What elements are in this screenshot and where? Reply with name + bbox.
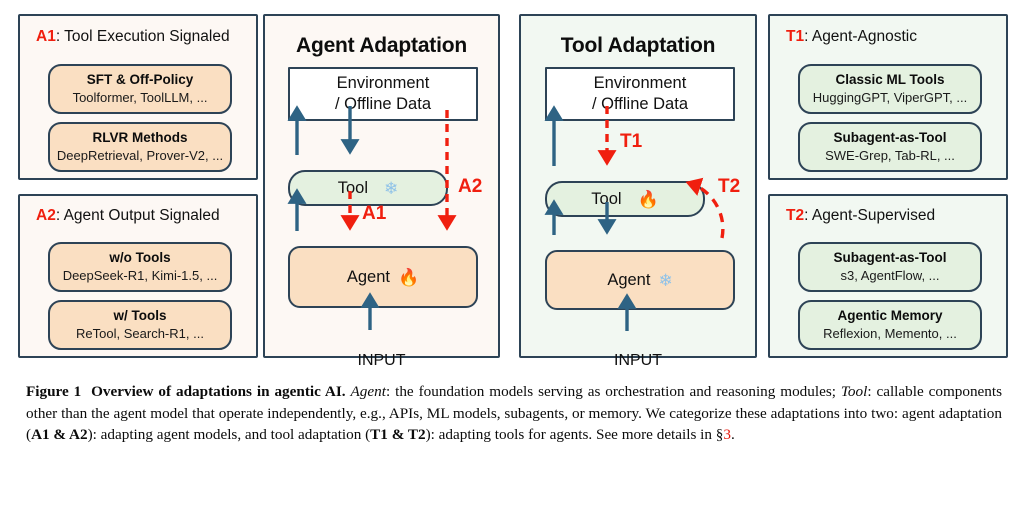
tool-label: Tool <box>338 179 368 198</box>
chip-examples: HuggingGPT, ViperGPT, ... <box>813 90 967 105</box>
environment-line-1: Environment <box>337 73 430 94</box>
agent-label: Agent <box>347 268 390 287</box>
panel-a2-heading: A2: Agent Output Signaled <box>36 207 220 225</box>
agent-box: Agent ❄ <box>545 250 735 310</box>
environment-box: Environment / Offline Data <box>288 67 478 121</box>
agent-adaptation-heading: Agent Adaptation <box>265 34 498 58</box>
panel-t2: T2: Agent-Supervised Subagent-as-Tool s3… <box>768 194 1008 358</box>
input-label: INPUT <box>521 352 755 370</box>
chip-examples: s3, AgentFlow, ... <box>841 268 940 283</box>
chip-classic-ml-tools[interactable]: Classic ML Tools HuggingGPT, ViperGPT, .… <box>798 64 982 114</box>
fire-icon: 🔥 <box>398 269 419 286</box>
chip-agentic-memory[interactable]: Agentic Memory Reflexion, Memento, ... <box>798 300 982 350</box>
input-label: INPUT <box>265 352 498 370</box>
chip-title: RLVR Methods <box>93 130 188 146</box>
caption-title: Overview of adaptations in agentic AI. <box>91 383 346 400</box>
fire-icon: 🔥 <box>638 191 659 208</box>
chip-title: SFT & Off-Policy <box>87 72 194 88</box>
panel-a1-code: A1 <box>36 28 56 45</box>
chip-examples: DeepRetrieval, Prover-V2, ... <box>57 148 223 163</box>
environment-box: Environment / Offline Data <box>545 67 735 121</box>
chip-subagent-as-tool-agnostic[interactable]: Subagent-as-Tool SWE-Grep, Tab-RL, ... <box>798 122 982 172</box>
caption-bold-t1t2: T1 & T2 <box>370 426 425 443</box>
flow-tag-a1: A1 <box>362 203 386 225</box>
chip-examples: DeepSeek-R1, Kimi-1.5, ... <box>63 268 218 283</box>
panel-t1-code: T1 <box>786 28 804 45</box>
panel-t1: T1: Agent-Agnostic Classic ML Tools Hugg… <box>768 14 1008 180</box>
chip-w-tools[interactable]: w/ Tools ReTool, Search-R1, ... <box>48 300 232 350</box>
chip-wo-tools[interactable]: w/o Tools DeepSeek-R1, Kimi-1.5, ... <box>48 242 232 292</box>
caption-section-ref[interactable]: 3 <box>723 426 731 443</box>
panel-a2-title: : Agent Output Signaled <box>56 207 220 224</box>
chip-examples: SWE-Grep, Tab-RL, ... <box>825 148 955 163</box>
panel-t1-title: : Agent-Agnostic <box>804 28 917 45</box>
panel-a2-code: A2 <box>36 207 56 224</box>
chip-title: Subagent-as-Tool <box>834 250 947 266</box>
figure-root: A1: Tool Execution Signaled SFT & Off-Po… <box>0 0 1024 509</box>
figure-caption: Figure 1 Overview of adaptations in agen… <box>26 381 1002 446</box>
panel-a1-title: : Tool Execution Signaled <box>56 28 230 45</box>
panel-t2-code: T2 <box>786 207 804 224</box>
caption-italic-agent: Agent <box>351 383 386 400</box>
tool-adaptation-heading: Tool Adaptation <box>521 34 755 58</box>
chip-sft-off-policy[interactable]: SFT & Off-Policy Toolformer, ToolLLM, ..… <box>48 64 232 114</box>
chip-title: Agentic Memory <box>837 308 942 324</box>
caption-text-4: ): adapting tools for agents. See more d… <box>426 426 724 443</box>
chip-title: Subagent-as-Tool <box>834 130 947 146</box>
caption-text-3: ): adapting agent models, and tool adapt… <box>88 426 371 443</box>
chip-examples: Toolformer, ToolLLM, ... <box>73 90 208 105</box>
panel-t1-heading: T1: Agent-Agnostic <box>786 28 917 46</box>
caption-bold-a1a2: A1 & A2 <box>31 426 88 443</box>
flow-tag-t1: T1 <box>620 131 642 153</box>
chip-examples: ReTool, Search-R1, ... <box>76 326 204 341</box>
agent-label: Agent <box>607 271 650 290</box>
snowflake-icon: ❄ <box>658 272 672 289</box>
snowflake-icon: ❄ <box>384 180 398 197</box>
caption-label: Figure 1 <box>26 383 81 400</box>
caption-italic-tool: Tool <box>841 383 867 400</box>
chip-title: w/o Tools <box>109 250 170 266</box>
environment-line-1: Environment <box>594 73 687 94</box>
chip-subagent-as-tool-supervised[interactable]: Subagent-as-Tool s3, AgentFlow, ... <box>798 242 982 292</box>
chip-rlvr-methods[interactable]: RLVR Methods DeepRetrieval, Prover-V2, .… <box>48 122 232 172</box>
panel-a2: A2: Agent Output Signaled w/o Tools Deep… <box>18 194 258 358</box>
caption-text-1: : the foundation models serving as orche… <box>386 383 841 400</box>
flow-tag-a2: A2 <box>458 176 482 198</box>
agent-box: Agent 🔥 <box>288 246 478 308</box>
tool-label: Tool <box>591 190 621 209</box>
environment-line-2: / Offline Data <box>592 94 688 115</box>
tool-box: Tool ❄ <box>288 170 448 206</box>
panel-a1-heading: A1: Tool Execution Signaled <box>36 28 230 46</box>
tool-box: Tool 🔥 <box>545 181 705 217</box>
chip-title: Classic ML Tools <box>835 72 944 88</box>
panel-t2-title: : Agent-Supervised <box>804 207 935 224</box>
chip-title: w/ Tools <box>114 308 167 324</box>
caption-text-5: . <box>731 426 735 443</box>
panel-a1: A1: Tool Execution Signaled SFT & Off-Po… <box>18 14 258 180</box>
panel-t2-heading: T2: Agent-Supervised <box>786 207 935 225</box>
environment-line-2: / Offline Data <box>335 94 431 115</box>
flow-tag-t2: T2 <box>718 176 740 198</box>
chip-examples: Reflexion, Memento, ... <box>823 326 957 341</box>
